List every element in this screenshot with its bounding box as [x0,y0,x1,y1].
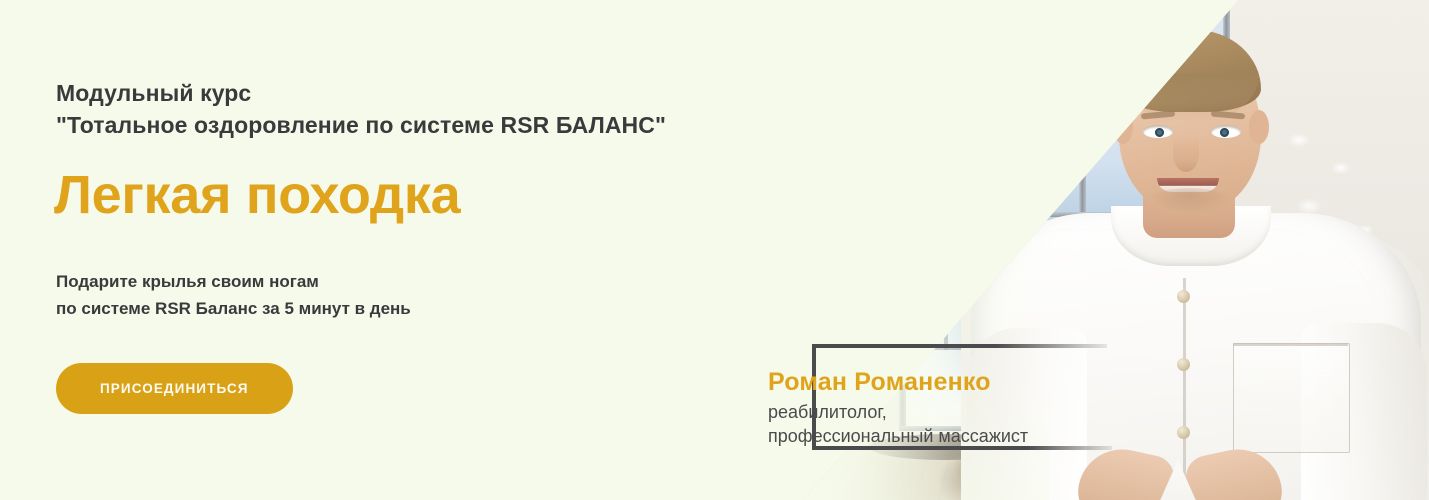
tunic-button-1 [1177,290,1190,303]
tunic-button-3 [1177,426,1190,439]
tunic-button-2 [1177,358,1190,371]
hero-banner: Модульный курс "Тотальное оздоровление п… [0,0,1429,500]
hero-content: Модульный курс "Тотальное оздоровление п… [56,78,816,414]
expert-name: Роман Романенко [768,368,991,397]
chin [1147,188,1231,214]
course-eyebrow: Модульный курс "Тотальное оздоровление п… [56,78,816,141]
join-button[interactable]: ПРИСОЕДИНИТЬСЯ [56,363,293,414]
expert-role: реабилитолог, профессиональный массажист [768,400,1028,448]
ear-left [1113,110,1133,144]
tunic-pocket-flap [1233,343,1348,346]
frame-top-edge [812,344,1107,348]
tunic-pocket [1233,343,1350,453]
eye-left [1143,125,1173,138]
expert-namecard: Роман Романенко реабилитолог, профессион… [768,344,1108,456]
eye-right [1211,125,1241,138]
page-title: Легкая походка [54,167,816,224]
hero-subtext: Подарите крылья своим ногам по системе R… [56,269,816,322]
nose [1173,136,1199,172]
tunic-placket [1183,278,1186,500]
ear-right [1249,110,1269,144]
